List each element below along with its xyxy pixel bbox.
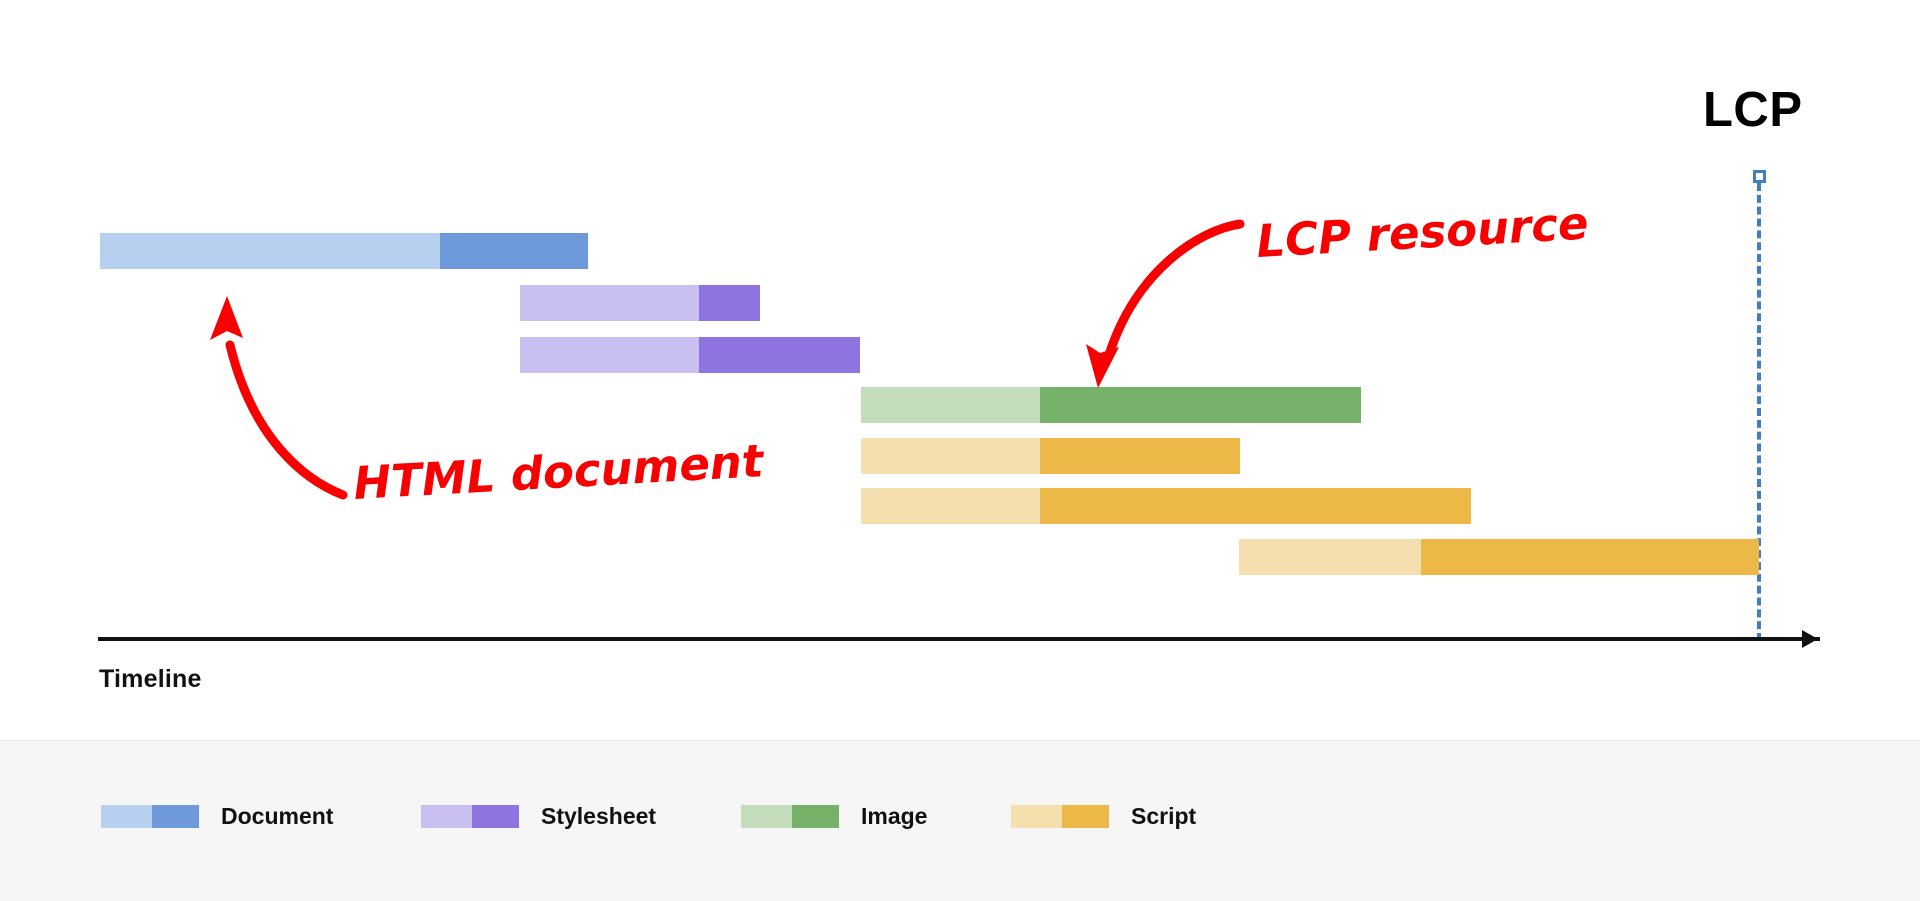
lcp-waterfall-figure: LCP HTML document LCP resource Timeline … xyxy=(0,0,1920,900)
legend-item-image: Image xyxy=(741,803,927,830)
legend-swatch-icon xyxy=(1011,805,1109,828)
legend-swatch-dark xyxy=(792,805,839,828)
html-document-arrow-icon xyxy=(195,290,375,505)
bar-segment-download xyxy=(1040,488,1471,524)
timeline-axis-label: Timeline xyxy=(99,665,202,694)
waterfall-bar-script xyxy=(861,438,1240,474)
legend-items: DocumentStylesheetImageScript xyxy=(0,741,1920,901)
legend-swatch-icon xyxy=(101,805,199,828)
legend-swatch-dark xyxy=(472,805,519,828)
bar-segment-download xyxy=(1040,438,1240,474)
legend-label: Script xyxy=(1131,803,1196,830)
bar-segment-wait xyxy=(861,438,1040,474)
legend-label: Stylesheet xyxy=(541,803,656,830)
legend-swatch-icon xyxy=(421,805,519,828)
bar-segment-wait xyxy=(861,488,1040,524)
legend-item-script: Script xyxy=(1011,803,1196,830)
waterfall-bar-document xyxy=(100,233,588,269)
bar-segment-download xyxy=(440,233,588,269)
bar-segment-wait xyxy=(520,337,699,373)
bar-segment-download xyxy=(699,285,760,321)
legend-swatch-icon xyxy=(741,805,839,828)
bar-segment-wait xyxy=(520,285,699,321)
legend-swatch-dark xyxy=(1062,805,1109,828)
legend-label: Image xyxy=(861,803,927,830)
timeline-axis-line xyxy=(98,637,1820,641)
bar-segment-wait xyxy=(1239,539,1421,575)
legend-swatch-dark xyxy=(152,805,199,828)
legend-item-stylesheet: Stylesheet xyxy=(421,803,656,830)
legend-swatch-light xyxy=(1011,805,1062,828)
legend-label: Document xyxy=(221,803,333,830)
timeline-axis-arrow-icon xyxy=(1802,630,1818,648)
annotation-lcp-resource: LCP resource xyxy=(1255,197,1590,268)
lcp-title-label: LCP xyxy=(1703,82,1803,138)
legend-swatch-light xyxy=(741,805,792,828)
lcp-resource-arrow-icon xyxy=(1080,210,1255,390)
waterfall-bar-script xyxy=(861,488,1471,524)
bar-segment-wait xyxy=(861,387,1040,423)
legend-swatch-light xyxy=(421,805,472,828)
waterfall-bar-script xyxy=(1239,539,1759,575)
bar-segment-download xyxy=(1421,539,1759,575)
bar-segment-wait xyxy=(100,233,440,269)
legend-strip: DocumentStylesheetImageScript xyxy=(0,740,1920,901)
bar-segment-download xyxy=(1040,387,1361,423)
waterfall-bar-stylesheet xyxy=(520,285,760,321)
lcp-marker-knob xyxy=(1753,170,1766,183)
legend-item-document: Document xyxy=(101,803,333,830)
chart-plot-area: LCP HTML document LCP resource Timeline xyxy=(0,0,1920,740)
waterfall-bar-stylesheet xyxy=(520,337,860,373)
annotation-html-document: HTML document xyxy=(352,434,765,510)
waterfall-bar-image xyxy=(861,387,1361,423)
legend-swatch-light xyxy=(101,805,152,828)
bar-segment-download xyxy=(699,337,860,373)
